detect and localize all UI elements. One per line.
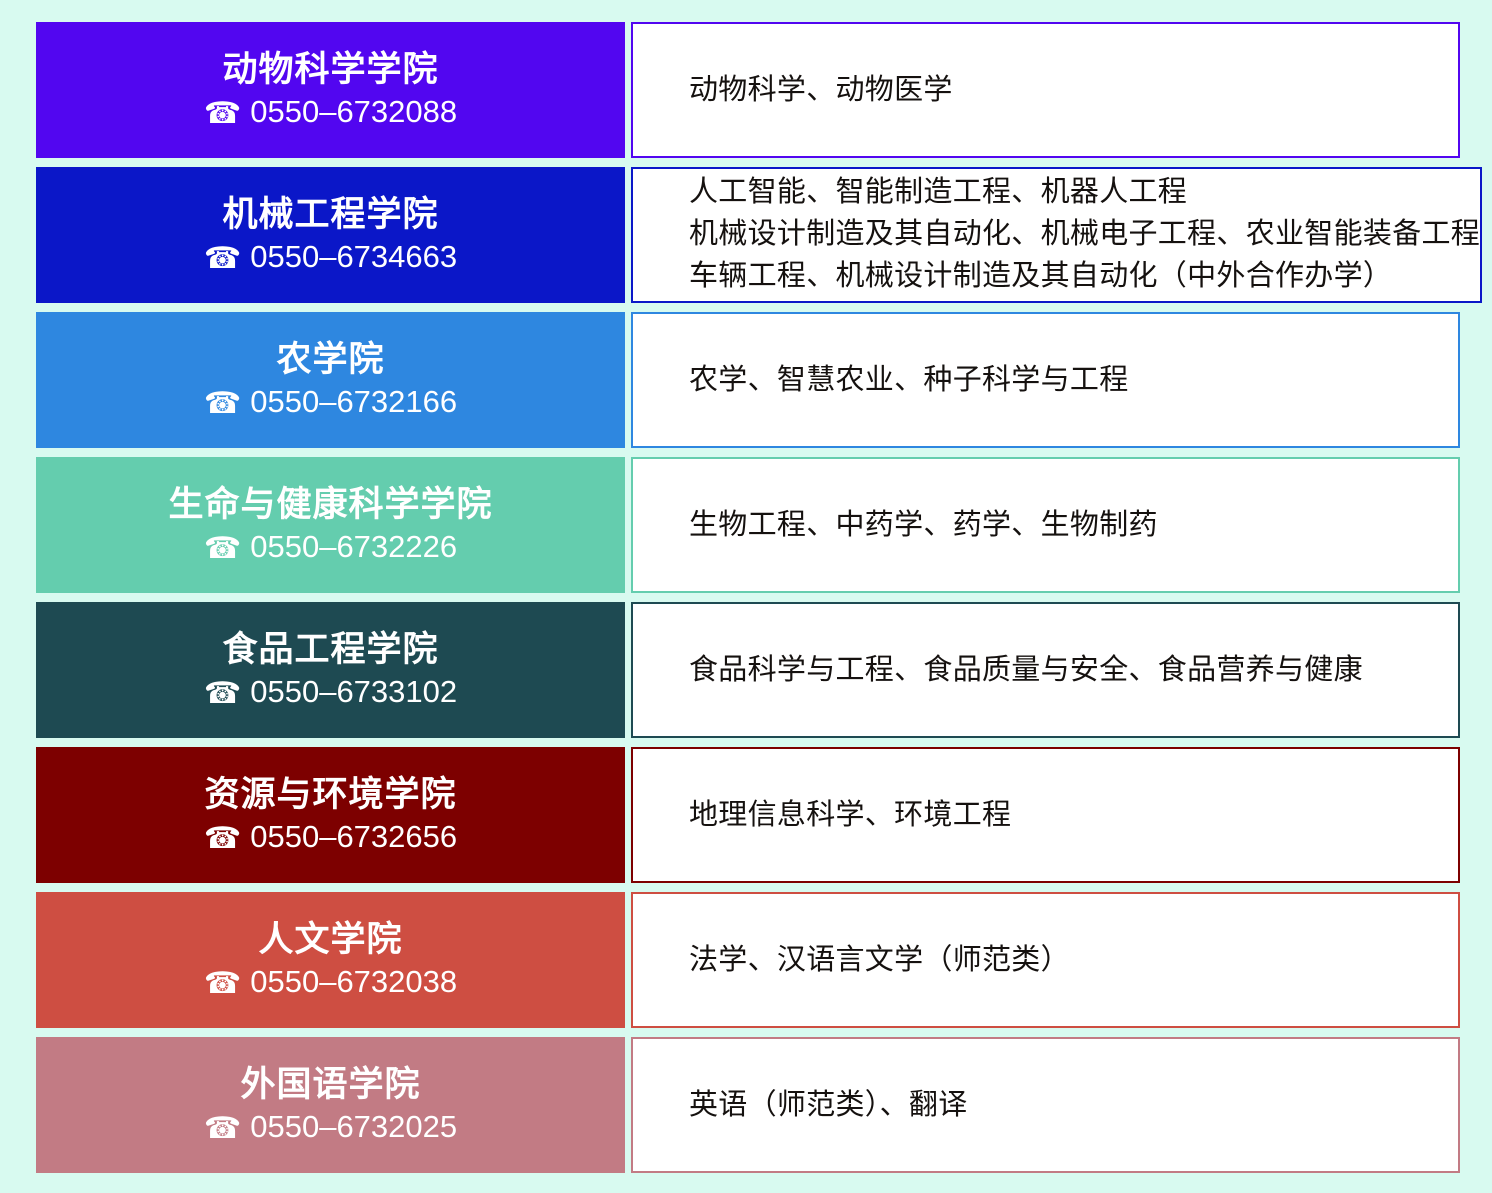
phone-number: 0550–6732656: [250, 820, 457, 855]
college-cell: 外国语学院☎0550–6732025: [36, 1037, 625, 1173]
major-line: 机械设计制造及其自动化、机械电子工程、农业智能装备工程: [689, 213, 1480, 255]
college-cell: 动物科学学院☎0550–6732088: [36, 22, 625, 158]
majors-cell: 英语（师范类）、翻译: [631, 1037, 1460, 1173]
telephone-icon: ☎: [204, 969, 241, 999]
college-cell: 农学院☎0550–6732166: [36, 312, 625, 448]
phone-number: 0550–6732038: [250, 965, 457, 1000]
phone-number: 0550–6732166: [250, 385, 457, 420]
college-cell: 生命与健康科学学院☎0550–6732226: [36, 457, 625, 593]
college-contact-table: 动物科学学院☎0550–6732088动物科学、动物医学机械工程学院☎0550–…: [36, 22, 1460, 1173]
table-row: 资源与环境学院☎0550–6732656地理信息科学、环境工程: [36, 747, 1460, 883]
college-cell: 人文学院☎0550–6732038: [36, 892, 625, 1028]
college-phone[interactable]: ☎0550–6733102: [204, 675, 457, 710]
majors-cell: 法学、汉语言文学（师范类）: [631, 892, 1460, 1028]
table-row: 动物科学学院☎0550–6732088动物科学、动物医学: [36, 22, 1460, 158]
major-line: 车辆工程、机械设计制造及其自动化（中外合作办学）: [689, 255, 1480, 297]
college-name: 资源与环境学院: [204, 775, 456, 814]
majors-cell: 人工智能、智能制造工程、机器人工程机械设计制造及其自动化、机械电子工程、农业智能…: [631, 167, 1482, 303]
college-phone[interactable]: ☎0550–6732226: [204, 530, 457, 565]
college-phone[interactable]: ☎0550–6732166: [204, 385, 457, 420]
table-row: 农学院☎0550–6732166农学、智慧农业、种子科学与工程: [36, 312, 1460, 448]
major-line: 动物科学、动物医学: [689, 69, 1458, 111]
college-name: 人文学院: [258, 920, 402, 959]
major-line: 法学、汉语言文学（师范类）: [689, 939, 1458, 981]
major-line: 人工智能、智能制造工程、机器人工程: [689, 171, 1480, 213]
majors-cell: 农学、智慧农业、种子科学与工程: [631, 312, 1460, 448]
telephone-icon: ☎: [204, 99, 241, 129]
college-phone[interactable]: ☎0550–6732025: [204, 1110, 457, 1145]
college-name: 动物科学学院: [222, 50, 438, 89]
major-line: 英语（师范类）、翻译: [689, 1084, 1458, 1126]
major-line: 农学、智慧农业、种子科学与工程: [689, 359, 1458, 401]
phone-number: 0550–6732226: [250, 530, 457, 565]
college-name: 外国语学院: [240, 1065, 420, 1104]
college-cell: 资源与环境学院☎0550–6732656: [36, 747, 625, 883]
college-cell: 食品工程学院☎0550–6733102: [36, 602, 625, 738]
college-phone[interactable]: ☎0550–6734663: [204, 240, 457, 275]
telephone-icon: ☎: [204, 244, 241, 274]
college-name: 农学院: [276, 340, 384, 379]
college-cell: 机械工程学院☎0550–6734663: [36, 167, 625, 303]
telephone-icon: ☎: [204, 1114, 241, 1144]
phone-number: 0550–6733102: [250, 675, 457, 710]
major-line: 地理信息科学、环境工程: [689, 794, 1458, 836]
table-row: 生命与健康科学学院☎0550–6732226生物工程、中药学、药学、生物制药: [36, 457, 1460, 593]
college-phone[interactable]: ☎0550–6732088: [204, 95, 457, 130]
major-line: 生物工程、中药学、药学、生物制药: [689, 504, 1458, 546]
phone-number: 0550–6734663: [250, 240, 457, 275]
table-row: 机械工程学院☎0550–6734663人工智能、智能制造工程、机器人工程机械设计…: [36, 167, 1460, 303]
college-name: 食品工程学院: [222, 630, 438, 669]
telephone-icon: ☎: [204, 389, 241, 419]
phone-number: 0550–6732025: [250, 1110, 457, 1145]
majors-cell: 地理信息科学、环境工程: [631, 747, 1460, 883]
college-name: 生命与健康科学学院: [168, 485, 492, 524]
table-row: 外国语学院☎0550–6732025英语（师范类）、翻译: [36, 1037, 1460, 1173]
telephone-icon: ☎: [204, 679, 241, 709]
major-line: 食品科学与工程、食品质量与安全、食品营养与健康: [689, 649, 1458, 691]
college-phone[interactable]: ☎0550–6732038: [204, 965, 457, 1000]
majors-cell: 食品科学与工程、食品质量与安全、食品营养与健康: [631, 602, 1460, 738]
college-phone[interactable]: ☎0550–6732656: [204, 820, 457, 855]
college-name: 机械工程学院: [222, 195, 438, 234]
phone-number: 0550–6732088: [250, 95, 457, 130]
telephone-icon: ☎: [204, 824, 241, 854]
telephone-icon: ☎: [204, 534, 241, 564]
table-row: 食品工程学院☎0550–6733102食品科学与工程、食品质量与安全、食品营养与…: [36, 602, 1460, 738]
majors-cell: 生物工程、中药学、药学、生物制药: [631, 457, 1460, 593]
table-row: 人文学院☎0550–6732038法学、汉语言文学（师范类）: [36, 892, 1460, 1028]
majors-cell: 动物科学、动物医学: [631, 22, 1460, 158]
